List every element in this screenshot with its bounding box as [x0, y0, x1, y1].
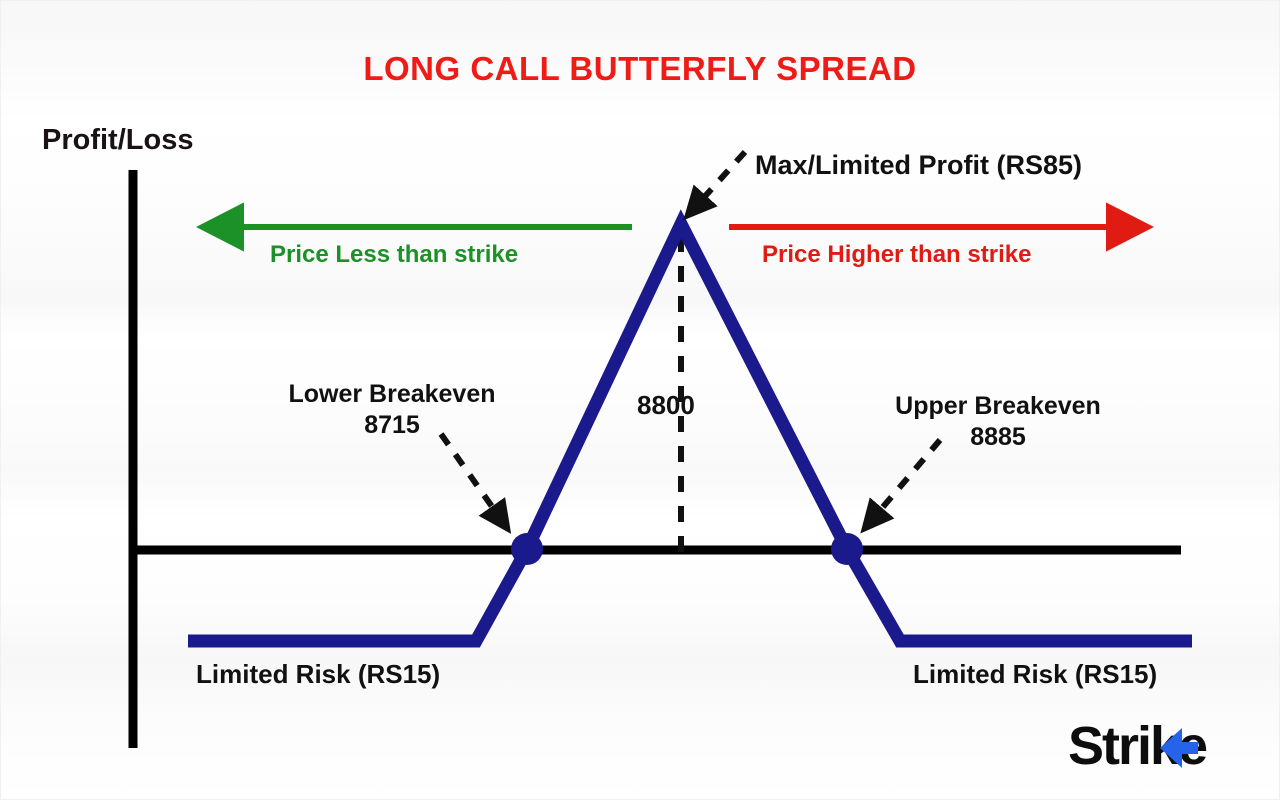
chevron-left-icon [1152, 728, 1198, 768]
lower-breakeven-title: Lower Breakeven [262, 379, 522, 410]
lower-breakeven-value: 8715 [262, 410, 522, 441]
limited-risk-left-label: Limited Risk (RS15) [196, 659, 440, 690]
legend-price-less-label: Price Less than strike [270, 241, 518, 269]
strike-price-label: 8800 [637, 390, 695, 421]
lower-breakeven-callout: Lower Breakeven 8715 [262, 379, 522, 442]
upper-breakeven-value: 8885 [868, 422, 1128, 453]
lower-breakeven-leader [441, 434, 507, 528]
upper-breakeven-callout: Upper Breakeven 8885 [868, 391, 1128, 454]
limited-risk-right-label: Limited Risk (RS15) [913, 659, 1157, 690]
max-profit-label: Max/Limited Profit (RS85) [755, 150, 1082, 181]
lower-breakeven-marker [511, 533, 543, 565]
upper-breakeven-marker [831, 533, 863, 565]
max-profit-leader [688, 152, 745, 215]
upper-breakeven-title: Upper Breakeven [868, 391, 1128, 422]
legend-price-higher-label: Price Higher than strike [762, 241, 1031, 269]
chart-canvas: LONG CALL BUTTERFLY SPREAD Profit/Loss [0, 0, 1280, 800]
strike-logo: Strike [1068, 716, 1206, 776]
